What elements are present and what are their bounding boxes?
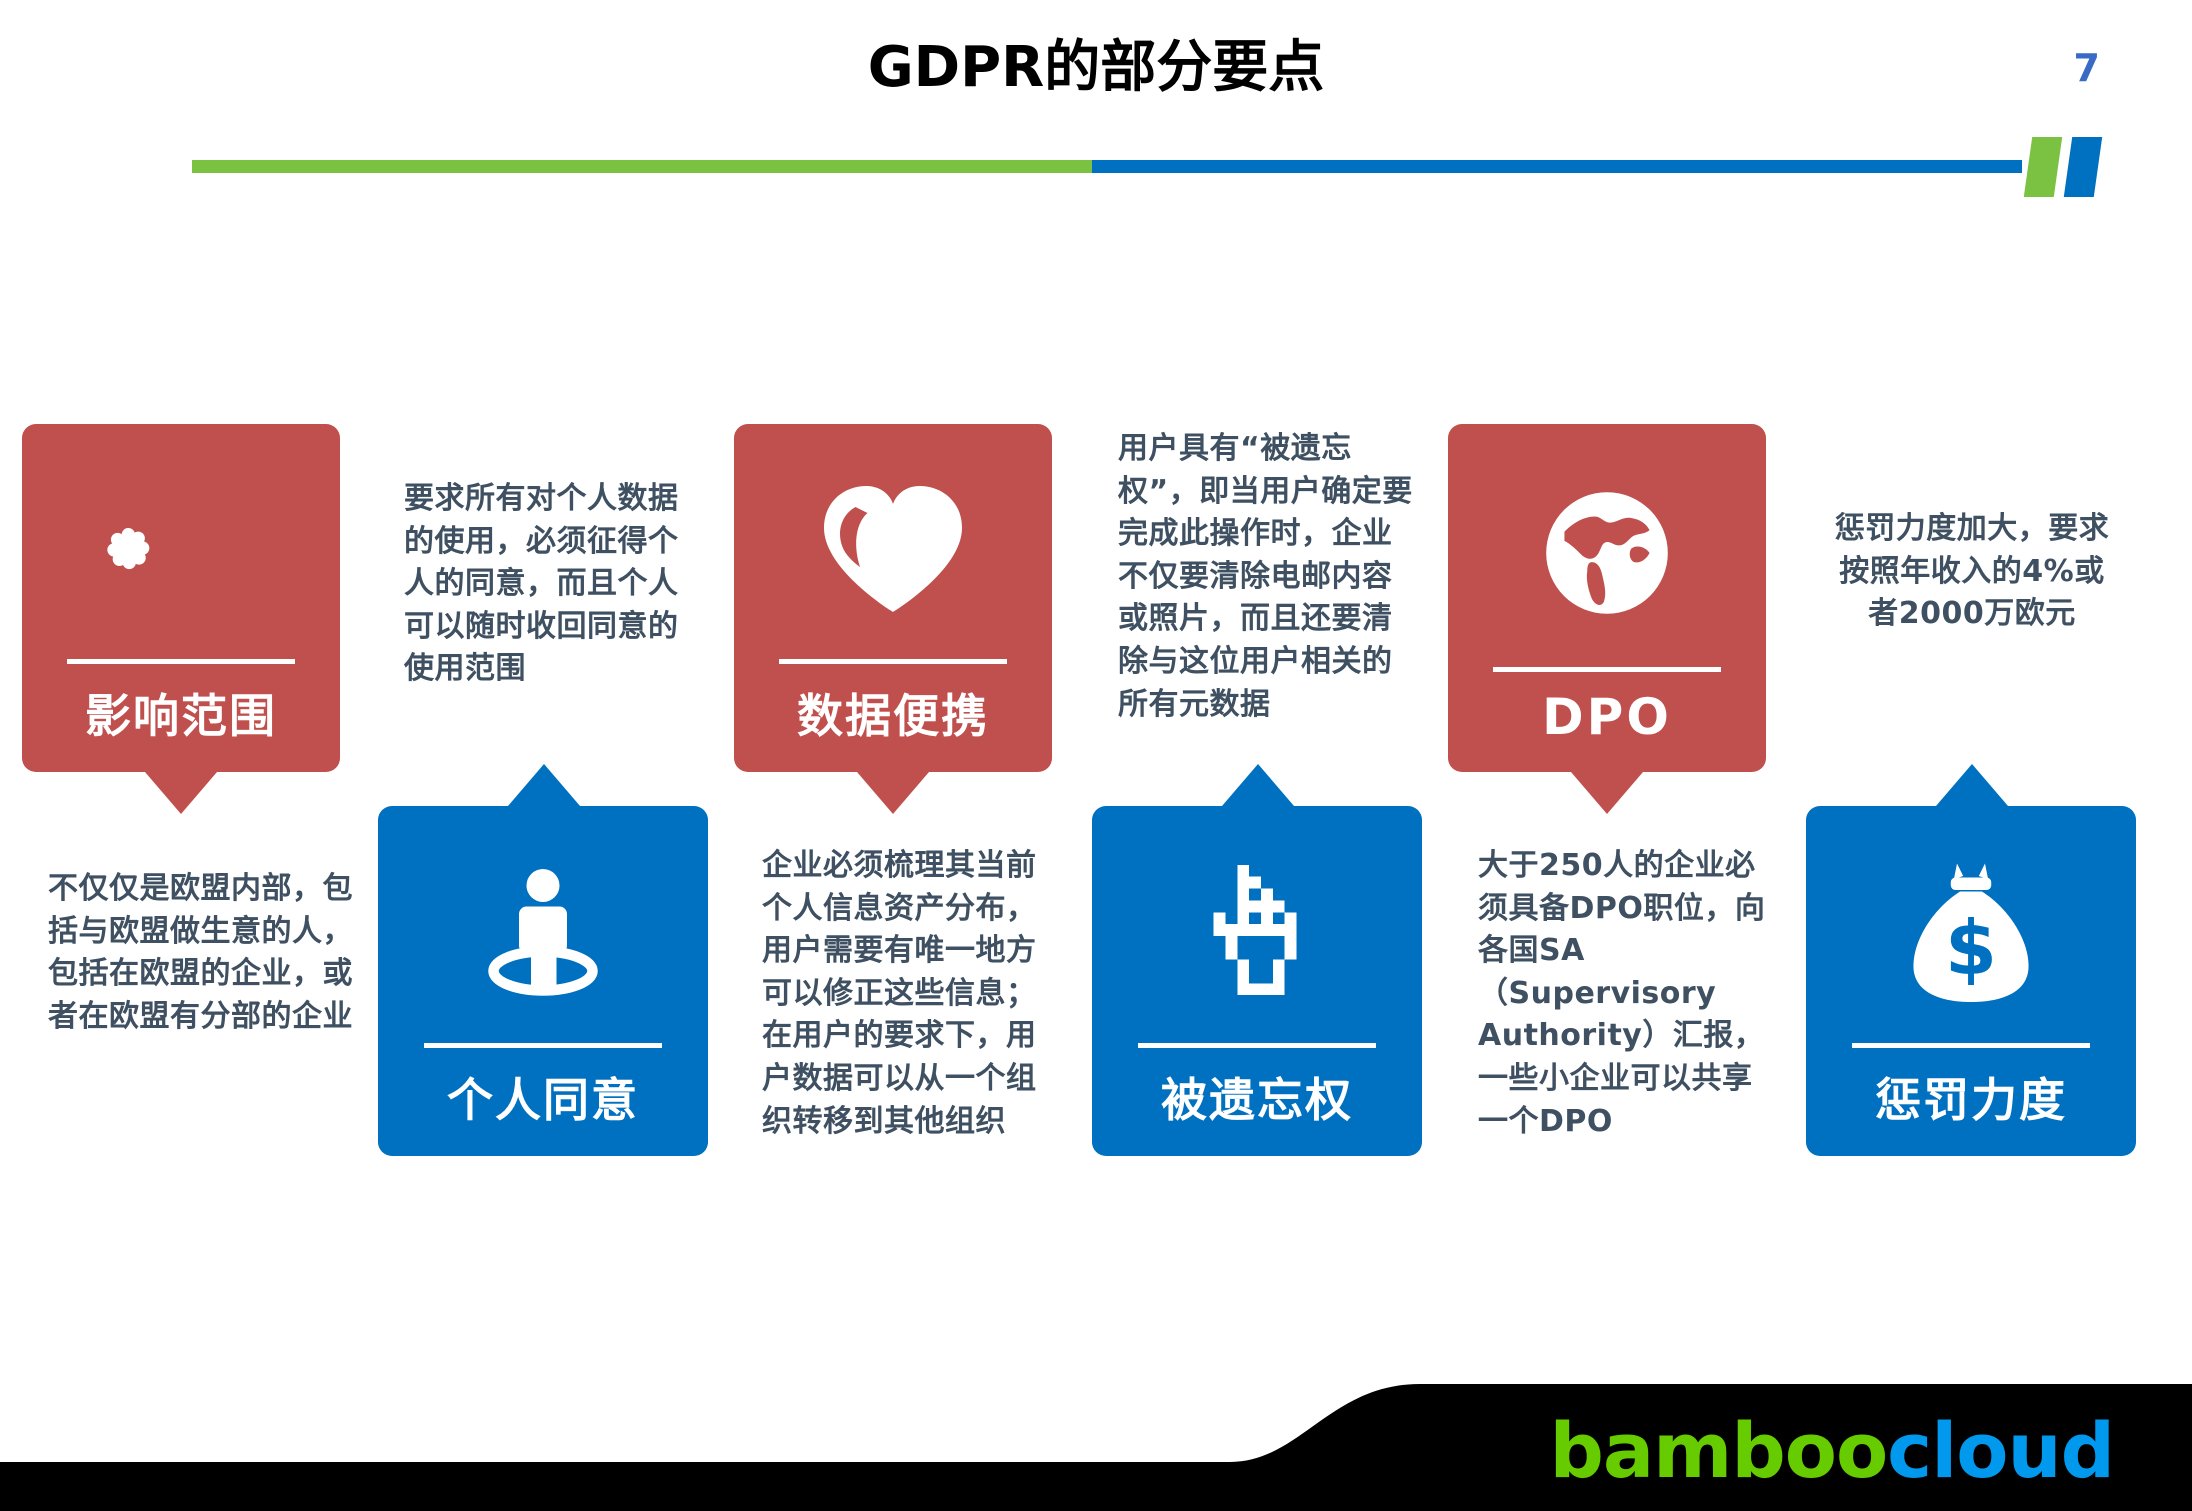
money-bag-icon: $ <box>1806 806 2136 1043</box>
heart-icon <box>734 424 1052 659</box>
bamboocloud-logo: bamboocloud <box>1549 1413 2114 1489</box>
description-impact-scope: 不仅仅是欧盟内部，包括与欧盟做生意的人，包括在欧盟的企业，或者在欧盟有分部的企业 <box>48 868 354 1038</box>
card-divider <box>424 1043 662 1048</box>
logo-text-cloud: cloud <box>1887 1406 2114 1495</box>
header-rule-blue <box>1092 160 2022 173</box>
pointer-down-data-portability <box>857 772 929 814</box>
description-dpo: 大于250人的企业必须具备DPO职位，向各国SA（Supervisory Aut… <box>1478 845 1768 1143</box>
globe-icon <box>1448 424 1766 667</box>
card-label-impact-scope: 影响范围 <box>22 668 340 772</box>
card-divider <box>1138 1043 1376 1048</box>
card-divider <box>1852 1043 2090 1048</box>
card-dpo[interactable]: DPO <box>1448 424 1766 772</box>
card-penalty-strength[interactable]: $ 惩罚力度 <box>1806 806 2136 1156</box>
card-label-data-portability: 数据便携 <box>734 668 1052 772</box>
description-individual-consent: 要求所有对个人数据的使用，必须征得个人的同意，而且个人可以随时收回同意的使用范围 <box>404 478 704 691</box>
sale-badge-label: SALE <box>151 528 256 569</box>
card-label-dpo: DPO <box>1448 676 1766 772</box>
header-accent-blue-icon <box>2064 137 2102 197</box>
card-label-individual-consent: 个人同意 <box>378 1052 708 1156</box>
pointer-down-dpo <box>1571 772 1643 814</box>
page-number: 7 <box>2074 46 2100 90</box>
pointing-hand-cursor-icon <box>1092 806 1422 1043</box>
pointer-down-impact-scope <box>145 772 217 814</box>
description-right-to-be-forgotten: 用户具有“被遗忘权”，即当用户确定要完成此操作时，企业不仅要清除电邮内容或照片，… <box>1118 428 1418 726</box>
page-title: GDPR的部分要点 <box>0 22 2192 103</box>
card-individual-consent[interactable]: 个人同意 <box>378 806 708 1156</box>
card-label-right-to-be-forgotten: 被遗忘权 <box>1092 1052 1422 1156</box>
logo-text-bamboo: bamboo <box>1549 1406 1887 1495</box>
header-rule-green <box>192 160 1092 173</box>
sale-badge-icon: SALE <box>22 424 340 659</box>
card-right-to-be-forgotten[interactable]: 被遗忘权 <box>1092 806 1422 1156</box>
description-data-portability: 企业必须梳理其当前个人信息资产分布，用户需要有唯一地方可以修正这些信息；在用户的… <box>762 845 1060 1143</box>
card-impact-scope[interactable]: SALE 影响范围 <box>22 424 340 772</box>
pointer-up-right-to-be-forgotten <box>1222 764 1294 806</box>
card-divider <box>67 659 296 664</box>
card-divider <box>779 659 1008 664</box>
card-data-portability[interactable]: 数据便携 <box>734 424 1052 772</box>
pointer-up-individual-consent <box>508 764 580 806</box>
card-label-penalty-strength: 惩罚力度 <box>1806 1052 2136 1156</box>
card-divider <box>1493 667 1722 672</box>
header-accent-green-icon <box>2024 137 2062 197</box>
svg-text:$: $ <box>1945 905 1997 992</box>
person-location-icon <box>378 806 708 1043</box>
slide-canvas: GDPR的部分要点 7 SALE 影响范围 不仅仅 <box>0 0 2192 1511</box>
description-penalty-strength: 惩罚力度加大，要求按照年收入的4%或者2000万欧元 <box>1828 508 2116 636</box>
pointer-up-penalty-strength <box>1936 764 2008 806</box>
